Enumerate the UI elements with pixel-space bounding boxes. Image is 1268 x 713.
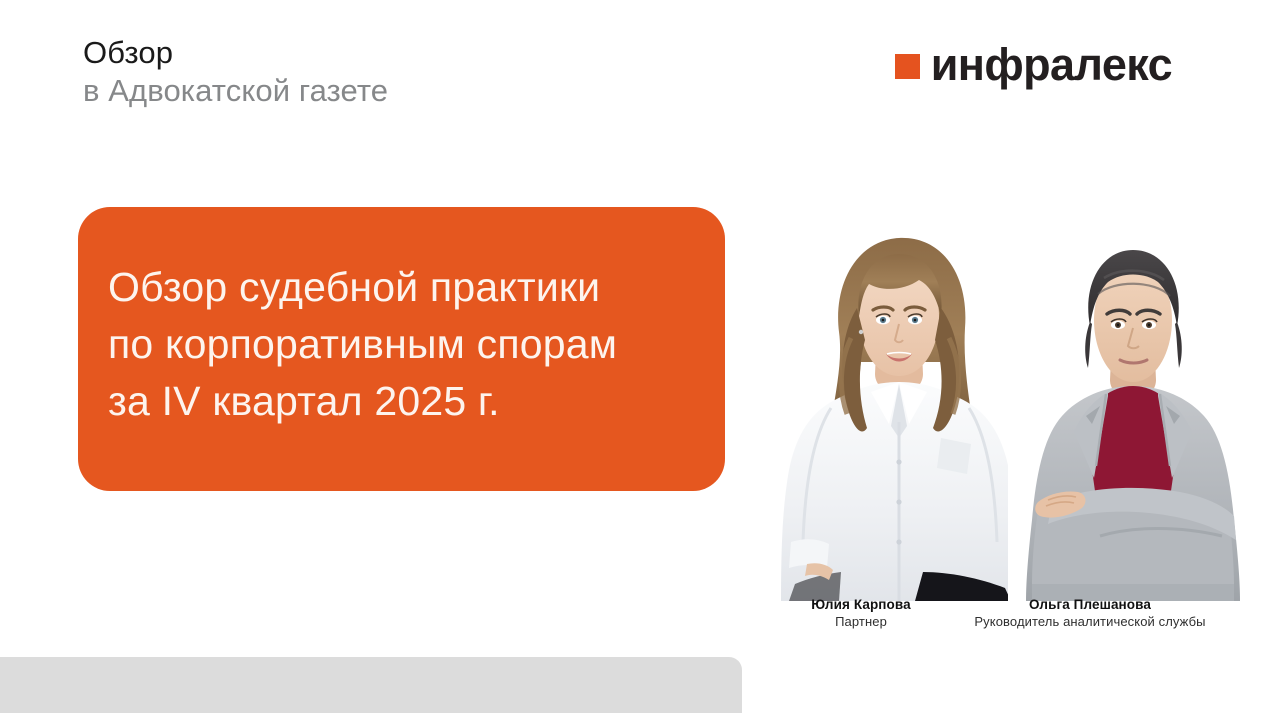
presentation-slide: Обзор в Адвокатской газете инфралекс Обз… [0,0,1268,713]
person-caption-pleshanova: Ольга Плешанова Руководитель аналитическ… [965,597,1215,630]
portrait-photo-karpova [773,212,1025,601]
title-line-2: по корпоративным спорам [108,316,711,373]
person-role: Партнер [738,613,984,630]
portrait-photo-pleshanova [1008,210,1255,601]
title-line-1: Обзор судебной практики [108,259,711,316]
person-name: Ольга Плешанова [965,597,1215,613]
orange-square-mark-icon [895,54,920,79]
title-card-text: Обзор судебной практики по корпоративным… [108,259,711,430]
person-role: Руководитель аналитической службы [965,613,1215,630]
title-line-3: за IV квартал 2025 г. [108,373,711,430]
header-primary-line: Обзор [83,34,388,72]
bottom-gray-bar [0,657,742,713]
title-card: Обзор судебной практики по корпоративным… [78,207,725,491]
header-secondary-line: в Адвокатской газете [83,72,388,110]
slide-header: Обзор в Адвокатской газете [83,34,388,110]
person-name: Юлия Карпова [738,597,984,613]
brand-logo-text: инфралекс [931,42,1172,87]
brand-logo: инфралекс [895,42,1172,87]
person-caption-karpova: Юлия Карпова Партнер [738,597,984,630]
